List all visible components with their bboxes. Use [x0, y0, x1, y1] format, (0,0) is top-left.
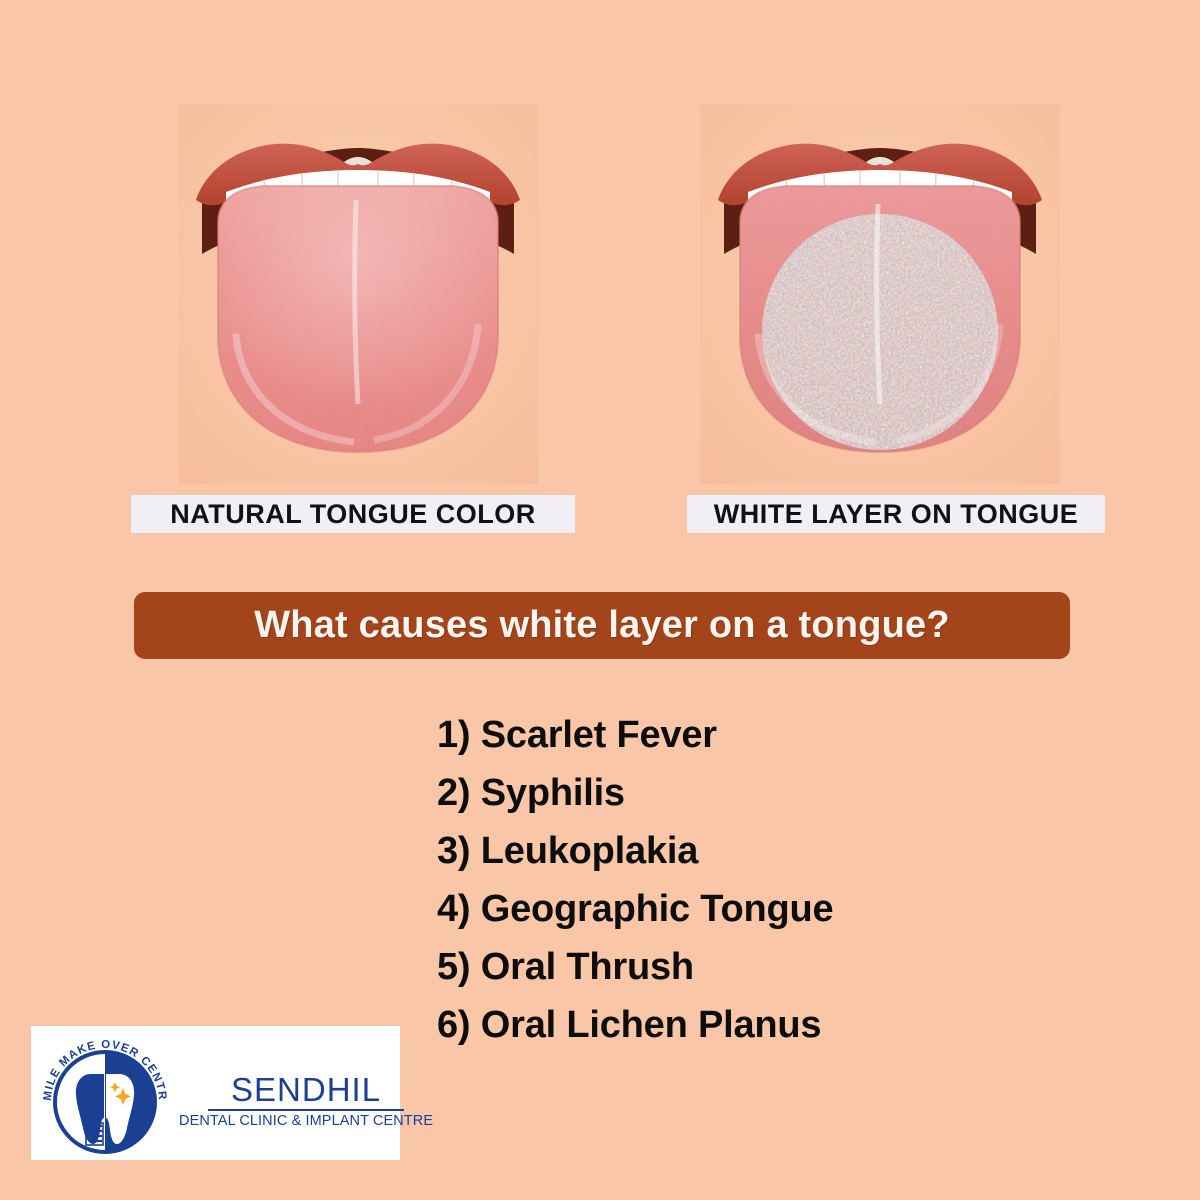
page-title: What causes white layer on a tongue?: [254, 604, 950, 647]
tooth-implant-circle-logo-icon: SMILE MAKE OVER CENTRE: [31, 1026, 179, 1160]
caption-natural-label: NATURAL TONGUE COLOR: [170, 499, 536, 530]
clinic-logo-card: SMILE MAKE OVER CENTRE SENDHIL DENTAL CL…: [31, 1026, 400, 1160]
causes-list: 1) Scarlet Fever 2) Syphilis 3) Leukopla…: [437, 706, 1037, 1054]
poster-canvas: NATURAL TONGUE COLOR WHITE LAYER ON TONG…: [0, 0, 1200, 1200]
list-item: 1) Scarlet Fever: [437, 706, 1037, 764]
clinic-tagline: DENTAL CLINIC & IMPLANT CENTRE: [179, 1113, 433, 1129]
caption-coated-label: WHITE LAYER ON TONGUE: [714, 499, 1079, 530]
list-item: 3) Leukoplakia: [437, 822, 1037, 880]
list-item: 4) Geographic Tongue: [437, 880, 1037, 938]
list-item: 2) Syphilis: [437, 764, 1037, 822]
clinic-name: SENDHIL: [231, 1073, 381, 1108]
white-layer-tongue-illustration: [700, 104, 1060, 484]
list-item: 5) Oral Thrush: [437, 938, 1037, 996]
logo-divider: [208, 1109, 404, 1111]
caption-natural-tongue-color: NATURAL TONGUE COLOR: [131, 495, 575, 533]
caption-white-layer-on-tongue: WHITE LAYER ON TONGUE: [687, 495, 1105, 533]
list-item: 6) Oral Lichen Planus: [437, 996, 1037, 1054]
logo-wordmark: SENDHIL DENTAL CLINIC & IMPLANT CENTRE: [179, 1073, 437, 1129]
headline-banner: What causes white layer on a tongue?: [134, 592, 1070, 659]
natural-tongue-illustration: [178, 104, 538, 484]
